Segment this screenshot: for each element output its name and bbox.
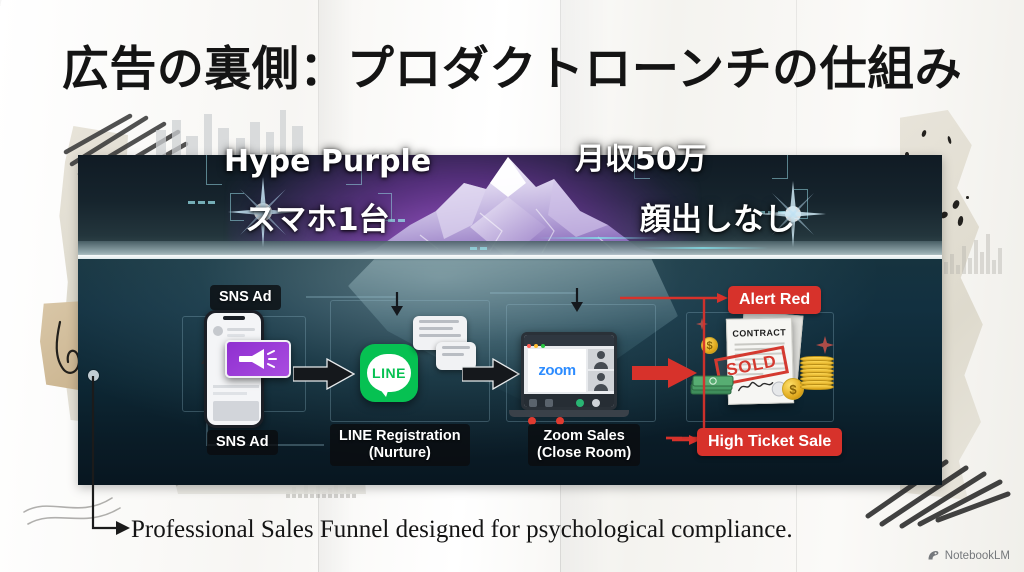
sparkle-icon <box>816 336 834 354</box>
hud-dots <box>470 247 487 250</box>
hud-bracket <box>794 189 808 219</box>
hud-bracket <box>772 155 788 179</box>
person-icon <box>594 384 608 391</box>
zoom-screen: zoom <box>528 349 586 392</box>
megaphone-icon <box>238 346 278 372</box>
caption-text: Professional Sales Funnel designed for p… <box>131 516 793 544</box>
flow-arrow-2 <box>462 358 520 390</box>
zoom-window: zoom <box>521 332 617 410</box>
post-avatar-icon <box>213 326 223 336</box>
notebooklm-logo-icon <box>927 549 940 562</box>
line-app-icon: LINE <box>360 344 418 402</box>
hud-line <box>638 247 768 249</box>
hud-dots <box>188 201 215 204</box>
node-label-sns-ad-top: SNS Ad <box>210 285 281 310</box>
node-label-line-registration: LINE Registration (Nurture) <box>330 424 470 466</box>
coin-stack-icon <box>800 358 834 404</box>
blueprint-arrow-down <box>386 292 408 318</box>
watermark-label: NotebookLM <box>945 550 1010 562</box>
red-connector-lines <box>620 290 730 450</box>
hud-bracket <box>230 193 244 221</box>
contract-heading: CONTRACT <box>727 327 791 339</box>
caption-connector <box>78 368 198 538</box>
post-text-line <box>213 385 259 388</box>
label-no-face: 顔出しなし <box>640 194 795 239</box>
blueprint-arrow-down <box>566 288 588 314</box>
label-monthly-income: 月収50万 <box>575 134 707 178</box>
person-icon <box>594 362 608 369</box>
badge-alert-red: Alert Red <box>728 286 821 314</box>
megaphone-ad-card <box>225 340 291 378</box>
badge-high-ticket-sale: High Ticket Sale <box>697 428 842 456</box>
person-icon <box>597 373 605 381</box>
label-smartphone-only: スマホ1台 <box>245 194 390 239</box>
phone-notch <box>223 316 245 320</box>
flow-arrow-1 <box>293 358 355 390</box>
post-text-line <box>227 334 245 337</box>
label-hype-purple: Hype Purple <box>224 144 431 179</box>
line-bubble-shape: LINE <box>367 354 411 392</box>
zoom-controls <box>524 394 614 407</box>
post-text-line <box>227 328 255 331</box>
post-text-line <box>213 392 247 395</box>
blueprint-wire <box>490 292 576 294</box>
notebooklm-watermark: NotebookLM <box>927 549 1010 562</box>
node-label-sns-ad: SNS Ad <box>207 430 278 455</box>
post-image-block <box>213 401 259 421</box>
person-icon <box>597 351 605 359</box>
window-titlebar <box>524 335 614 346</box>
page-title: 広告の裏側：プロダクトローンチの仕組み <box>0 30 1024 99</box>
hud-bracket <box>206 155 222 185</box>
line-wordmark: LINE <box>372 365 406 381</box>
zoom-wordmark: zoom <box>538 362 575 379</box>
participant-tile <box>588 371 614 391</box>
participant-tile <box>588 349 614 369</box>
decorative-bar-chart <box>944 232 1002 274</box>
laptop-base <box>509 410 629 417</box>
paper-speck <box>966 196 969 199</box>
blueprint-wire <box>306 296 396 298</box>
